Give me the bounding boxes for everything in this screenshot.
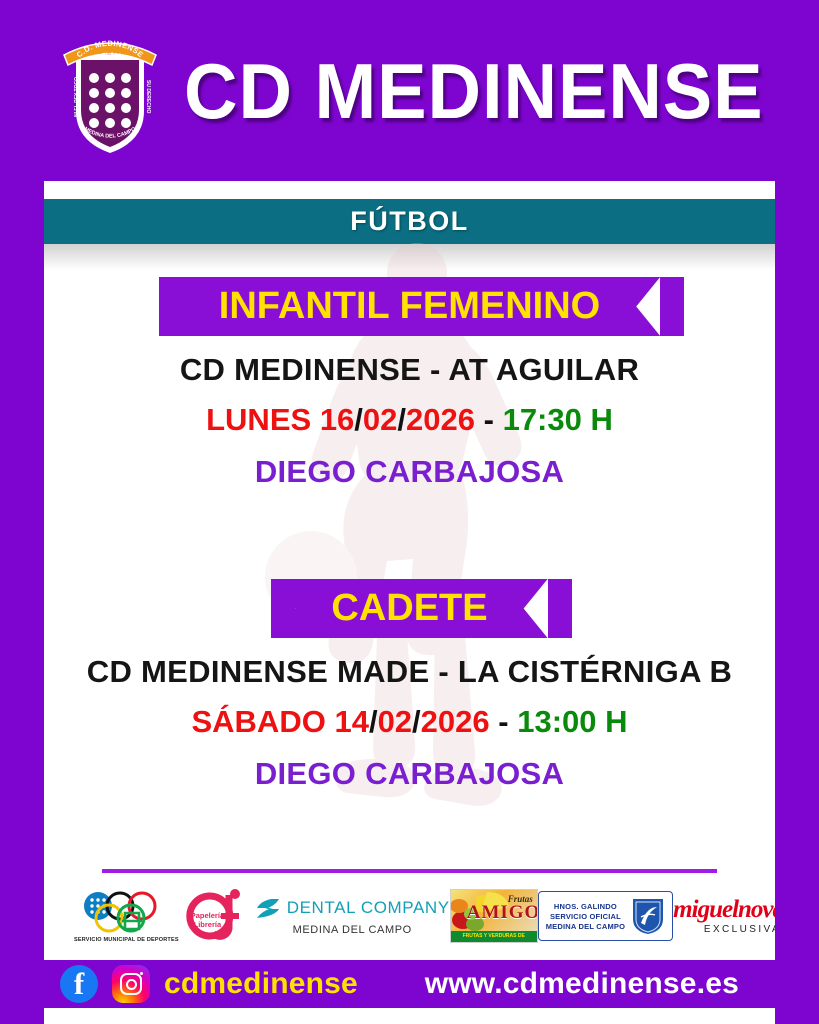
peugeot-shield-icon <box>631 897 665 935</box>
instagram-lens <box>126 979 137 990</box>
match-date-year-2: 2026 <box>421 704 490 739</box>
facebook-icon[interactable] <box>60 965 98 1003</box>
category-label-1: INFANTIL FEMENINO <box>159 277 660 336</box>
amigo-word: AMIGO <box>467 902 538 924</box>
sponsor-papeleria-libreria: Papelería Librería <box>179 887 255 945</box>
dental-name: DENTAL COMPANY <box>287 898 450 918</box>
venue-1: DIEGO CARBAJOSA <box>44 454 775 490</box>
galindo-line1: HNOS. GALINDO <box>554 902 617 911</box>
svg-text:SU DERECHO: SU DERECHO <box>145 80 151 113</box>
match-date-day-1: 16 <box>320 402 354 437</box>
sponsor-miguelnoval: miguelnoval EXCLUSIVAS <box>673 897 775 935</box>
teams-1: CD MEDINENSE - AT AGUILAR <box>44 352 775 388</box>
miguelnoval-sub: EXCLUSIVAS <box>704 924 775 935</box>
galindo-line3: MEDINA DEL CAMPO <box>546 922 625 931</box>
poster-footer: cdmedinense www.cdmedinense.es <box>0 960 819 1008</box>
match-date-year-1: 2026 <box>406 402 475 437</box>
category-ribbon-2: CADETE <box>271 579 547 638</box>
match-day-2: SÁBADO <box>191 704 325 739</box>
amigo-tagline: FRUTAS Y VERDURAS DE PRIMERA CALIDAD <box>451 931 537 943</box>
teams-2: CD MEDINENSE MADE - LA CISTÉRNIGA B <box>44 654 775 690</box>
frutas-amigo-logo-icon: Frutas AMIGO FRUTAS Y VERDURAS DE PRIMER… <box>450 889 538 943</box>
date-sep-2b: / <box>412 704 421 739</box>
amigo-tagline-bar: FRUTAS Y VERDURAS DE PRIMERA CALIDAD <box>451 931 537 942</box>
website-url[interactable]: www.cdmedinense.es <box>425 967 739 1001</box>
content-card: FÚTBOL <box>44 181 775 960</box>
sponsor-caption-servicio: SERVICIO MUNICIPAL DE DEPORTES <box>74 937 179 943</box>
sponsor-dental-company: DENTAL COMPANY MEDINA DEL CAMPO <box>255 896 450 936</box>
olympic-rings-icon <box>76 889 176 935</box>
match-block-1: INFANTIL FEMENINO CD MEDINENSE - AT AGUI… <box>44 277 775 490</box>
match-time-2: 13:00 H <box>517 704 627 739</box>
club-crest-icon: C.D. MEDINENSE AI EL PAPA MEDINA DEL CAM… <box>58 25 162 157</box>
date-dash-1: - <box>484 402 494 437</box>
poster-header: C.D. MEDINENSE AI EL PAPA MEDINA DEL CAM… <box>0 0 819 181</box>
match-time-1: 17:30 H <box>503 402 613 437</box>
match-block-2: CADETE CD MEDINENSE MADE - LA CISTÉRNIGA… <box>44 579 775 792</box>
datetime-2: SÁBADO 14/02/2026 - 13:00 H <box>44 704 775 740</box>
social-group: cdmedinense <box>60 965 358 1003</box>
sponsor-frutas-amigo: Frutas AMIGO FRUTAS Y VERDURAS DE PRIMER… <box>450 889 538 943</box>
svg-text:NI EL REY TOCO: NI EL REY TOCO <box>74 76 80 116</box>
papeleria-line2: Librería <box>191 920 224 929</box>
papeleria-line1: Papelería <box>191 911 224 920</box>
galindo-text: HNOS. GALINDO SERVICIO OFICIAL MEDINA DE… <box>546 902 625 931</box>
social-handle[interactable]: cdmedinense <box>164 967 358 1001</box>
category-label-2: CADETE <box>271 579 547 638</box>
instagram-dot <box>140 972 143 975</box>
dental-sub: MEDINA DEL CAMPO <box>293 924 412 936</box>
category-ribbon-1: INFANTIL FEMENINO <box>159 277 660 336</box>
poster: C.D. MEDINENSE AI EL PAPA MEDINA DEL CAM… <box>0 0 819 1024</box>
card-body: INFANTIL FEMENINO CD MEDINENSE - AT AGUI… <box>44 181 775 960</box>
match-date-month-1: 02 <box>363 402 397 437</box>
galindo-line2: SERVICIO OFICIAL <box>550 912 621 921</box>
match-date-month-2: 02 <box>378 704 412 739</box>
sponsor-row: SERVICIO MUNICIPAL DE DEPORTES Papelería… <box>74 881 745 951</box>
club-title: CD MEDINENSE <box>184 52 764 130</box>
instagram-icon[interactable] <box>112 965 150 1003</box>
galindo-box: HNOS. GALINDO SERVICIO OFICIAL MEDINA DE… <box>538 891 673 941</box>
match-day-1: LUNES <box>206 402 311 437</box>
date-sep-1b: / <box>397 402 406 437</box>
sponsor-hnos-galindo: HNOS. GALINDO SERVICIO OFICIAL MEDINA DE… <box>538 891 673 941</box>
venue-2: DIEGO CARBAJOSA <box>44 756 775 792</box>
sponsor-papeleria-text: Papelería Librería <box>191 911 224 929</box>
match-date-day-2: 14 <box>334 704 368 739</box>
sponsor-servicio-municipal-deportes: SERVICIO MUNICIPAL DE DEPORTES <box>74 889 179 943</box>
miguelnoval-name: miguelnoval <box>673 897 775 922</box>
date-sep-1a: / <box>354 402 363 437</box>
bottom-white-strip <box>44 1008 775 1024</box>
dental-swoosh-icon <box>255 896 281 920</box>
sponsor-divider <box>102 869 717 873</box>
datetime-1: LUNES 16/02/2026 - 17:30 H <box>44 402 775 438</box>
date-sep-2a: / <box>369 704 378 739</box>
date-dash-2: - <box>498 704 508 739</box>
